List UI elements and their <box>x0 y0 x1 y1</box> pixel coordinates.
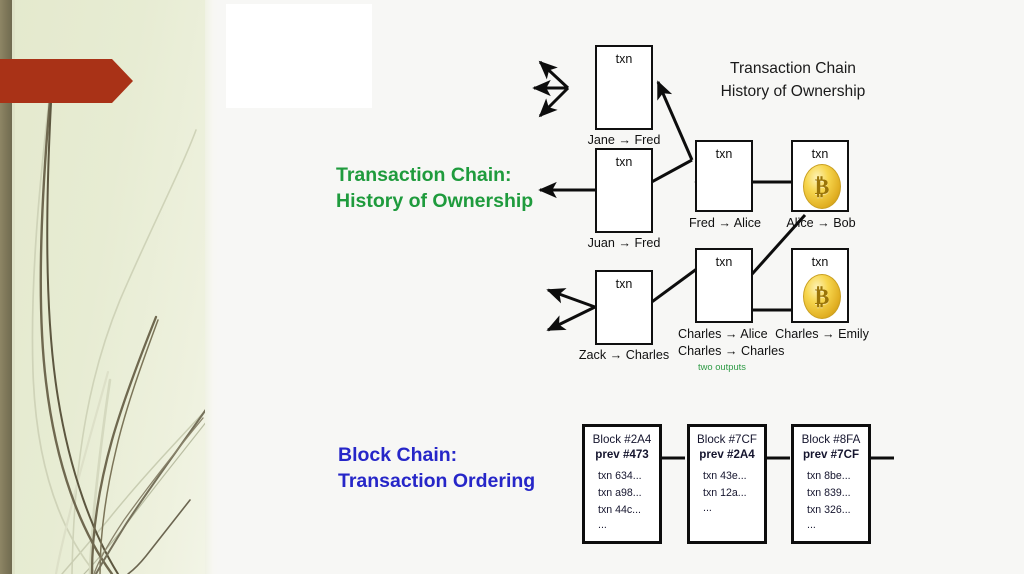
diagram-title-line1: Transaction Chain <box>688 58 898 81</box>
txn-label: txn <box>793 255 847 269</box>
diagram-title: Transaction Chain History of Ownership <box>688 58 898 103</box>
red-arrow-banner <box>0 58 134 104</box>
block-txn-item: txn a98... <box>585 485 659 502</box>
txn-box-fred-alice[interactable]: txn <box>695 140 753 212</box>
block-txn-item: txn 43e... <box>690 468 764 485</box>
slide: Transaction Chain: History of Ownership … <box>0 0 1024 574</box>
bitcoin-b-symbol: ₿ <box>815 286 830 308</box>
txn-caption-zack-charles: Zack → Charles <box>565 348 683 362</box>
block-txn-item: txn 12a... <box>690 485 764 502</box>
txn-box-charles-alice[interactable]: txn <box>695 248 753 323</box>
block-prev-hash: prev #473 <box>585 448 659 461</box>
block-prev-hash: prev #7CF <box>794 448 868 461</box>
txn-box-alice-bob[interactable]: txn ₿ <box>791 140 849 212</box>
txn-box-jane-fred[interactable]: txn <box>595 45 653 130</box>
txn-caption-juan-fred: Juan → Fred <box>573 236 675 250</box>
block-title: Block #8FA <box>794 433 868 446</box>
block-txn-item: txn 326... <box>794 502 868 519</box>
block-box-8FA[interactable]: Block #8FA prev #7CF txn 8be... txn 839.… <box>791 424 871 544</box>
txn-box-zack-charles[interactable]: txn <box>595 270 653 345</box>
bitcoin-b-symbol: ₿ <box>815 176 830 198</box>
diagram-title-line2: History of Ownership <box>688 81 898 104</box>
txn-label: txn <box>597 277 651 291</box>
txn-label: txn <box>597 155 651 169</box>
bitcoin-coin-icon: ₿ <box>803 274 841 319</box>
txn-caption-charles-alice: Charles → Alice <box>678 327 768 341</box>
txn-label: txn <box>697 147 751 161</box>
block-txn-item: txn 8be... <box>794 468 868 485</box>
txn-caption-charles-emily: Charles → Emily <box>770 327 874 341</box>
txn-box-juan-fred[interactable]: txn <box>595 148 653 233</box>
txn-caption-charles-charles: Charles → Charles <box>678 344 784 358</box>
txn-caption-jane-fred: Jane → Fred <box>573 133 675 147</box>
txn-caption-alice-bob: Alice → Bob <box>775 216 867 230</box>
block-title: Block #2A4 <box>585 433 659 446</box>
bitcoin-coin-icon: ₿ <box>803 164 841 209</box>
block-prev-hash: prev #2A4 <box>690 448 764 461</box>
empty-content-placeholder <box>226 4 372 108</box>
block-title: Block #7CF <box>690 433 764 446</box>
txn-label: txn <box>793 147 847 161</box>
txn-caption-fred-alice: Fred → Alice <box>678 216 772 230</box>
block-txn-item: txn 839... <box>794 485 868 502</box>
block-box-7CF[interactable]: Block #7CF prev #2A4 txn 43e... txn 12a.… <box>687 424 767 544</box>
txn-label: txn <box>597 52 651 66</box>
txn-box-charles-emily[interactable]: txn ₿ <box>791 248 849 323</box>
block-txn-ellipsis: ... <box>794 519 868 533</box>
two-outputs-note: two outputs <box>698 361 746 372</box>
block-box-2A4[interactable]: Block #2A4 prev #473 txn 634... txn a98.… <box>582 424 662 544</box>
txn-label: txn <box>697 255 751 269</box>
blockchain-diagram: Transaction Chain History of Ownership t… <box>430 0 1024 574</box>
block-txn-ellipsis: ... <box>690 502 764 516</box>
block-txn-ellipsis: ... <box>585 519 659 533</box>
sidebar-right-fade <box>205 0 218 574</box>
block-txn-item: txn 44c... <box>585 502 659 519</box>
block-txn-item: txn 634... <box>585 468 659 485</box>
